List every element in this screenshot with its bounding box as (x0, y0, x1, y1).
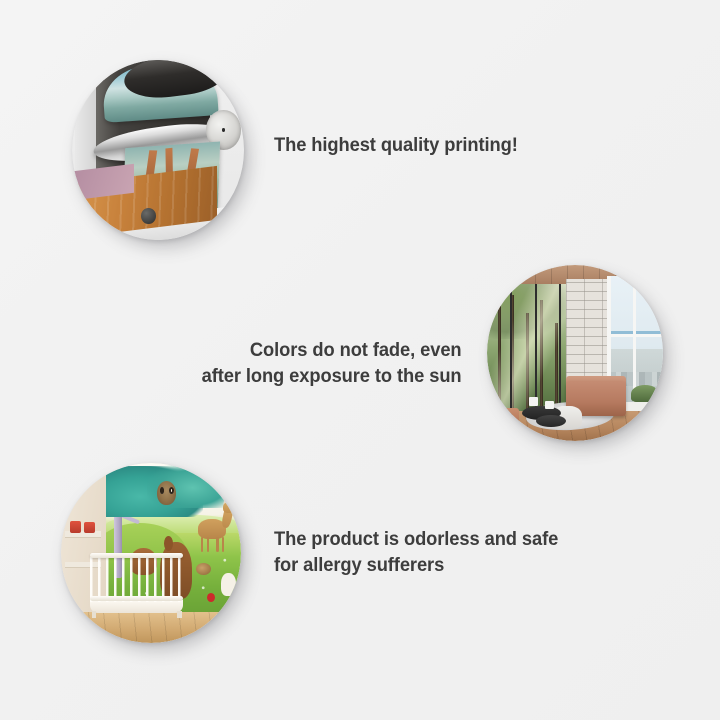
promo-banner: The highest quality printing! (0, 0, 720, 720)
red-jar (70, 521, 81, 534)
coffee-cup (545, 401, 554, 410)
press-knob (206, 224, 215, 233)
caption-highest-quality-printing: The highest quality printing! (274, 133, 518, 159)
mural-sun-rays (487, 284, 568, 414)
nursery-photo-inner (61, 463, 241, 643)
press-knob (141, 208, 156, 224)
living-room-photo-inner (487, 265, 663, 441)
caption-odorless-and-safe: The product is odorless and safe for all… (274, 527, 558, 579)
printing-machine-photo (72, 60, 244, 240)
living-room-forest-mural-photo (487, 265, 663, 441)
deer-leg (201, 537, 203, 552)
living-room-scene (487, 265, 663, 441)
nursery-scene (61, 463, 241, 643)
white-crib (90, 553, 184, 618)
caption-colors-do-not-fade: Colors do not fade, even after long expo… (202, 338, 462, 390)
deer-leg (222, 537, 224, 552)
window-plants (631, 385, 659, 403)
forest-wall-mural (487, 284, 568, 414)
deer-leg (216, 537, 218, 552)
mural-panel-divider (510, 284, 512, 414)
mural-owl (157, 481, 176, 505)
printing-photo-inner (72, 60, 244, 240)
printing-scene (72, 60, 244, 240)
deer-head (223, 502, 234, 513)
mural-panel-divider (535, 284, 537, 414)
coffee-cup (529, 397, 538, 406)
crib-leg (92, 611, 97, 617)
mural-panel-divider (559, 284, 561, 414)
crib-top-rail (90, 553, 184, 558)
mural-deer (198, 502, 233, 550)
round-side-table (536, 415, 566, 427)
crib-bottom-rail (90, 596, 184, 601)
crib-leg (177, 611, 182, 617)
leather-ottoman (487, 408, 519, 427)
window-mullion (633, 276, 636, 403)
nursery-animal-mural-photo (61, 463, 241, 643)
red-jar (84, 522, 95, 533)
mural-rabbit (221, 573, 236, 596)
crib-bars (90, 557, 184, 602)
deer-leg (207, 537, 209, 552)
